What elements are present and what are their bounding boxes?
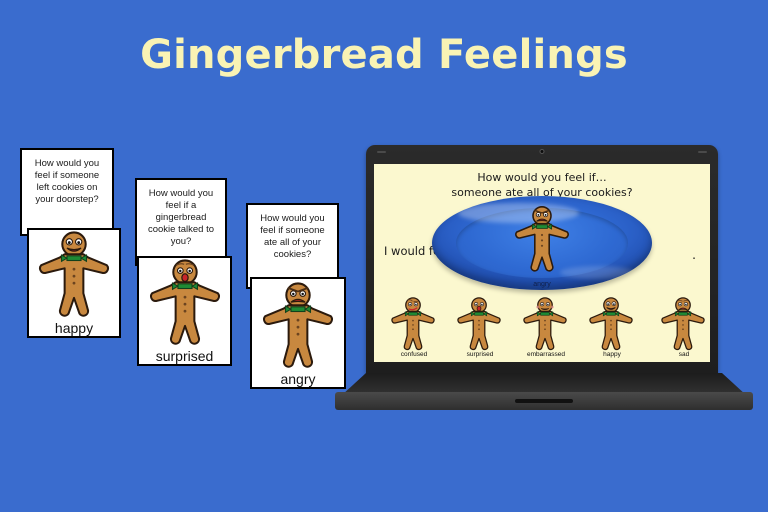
gingerbread-figure-angry-on-plate[interactable]	[512, 202, 572, 279]
slide-content: How would you feel if… someone ate all o…	[374, 164, 710, 362]
plate-dropzone[interactable]: angry	[432, 196, 652, 290]
gingerbread-svg	[520, 294, 570, 352]
gingerbread-svg	[454, 294, 504, 352]
bezel-dash-right-icon	[698, 151, 707, 153]
bezel-dash-left-icon	[377, 151, 386, 153]
choice-happy[interactable]: happy	[586, 294, 638, 356]
gingerbread-svg	[259, 277, 337, 371]
gingerbread-svg	[146, 254, 224, 348]
laptop-latch-notch	[515, 399, 573, 403]
gingerbread-svg	[512, 202, 572, 274]
gingerbread-svg	[586, 294, 636, 352]
laptop-base-front	[335, 392, 753, 410]
laptop-screen[interactable]: How would you feel if… someone ate all o…	[374, 164, 710, 362]
answer-card-2-label: surprised	[139, 348, 230, 364]
answer-card-1-label: happy	[29, 320, 119, 336]
choice-embarrassed[interactable]: embarrassed	[520, 294, 572, 356]
plate-item-label: angry	[533, 281, 551, 288]
gingerbread-figure-happy-large	[29, 226, 119, 320]
screen-question-line1: How would you feel if…	[374, 170, 710, 185]
choice-confused-label: confused	[401, 351, 427, 358]
question-card-2[interactable]: How would you feel if a gingerbread cook…	[135, 178, 227, 266]
sentence-end-period: .	[692, 248, 696, 262]
choice-sad-label: sad	[679, 351, 689, 358]
choice-surprised[interactable]: surprised	[454, 294, 506, 356]
answer-card-2[interactable]: surprised	[137, 256, 232, 366]
page-title: Gingerbread Feelings	[0, 32, 768, 78]
choice-confused[interactable]: confused	[388, 294, 440, 356]
question-card-1-text: How would you feel if someone left cooki…	[28, 158, 106, 206]
choice-happy-label: happy	[603, 351, 621, 358]
gingerbread-svg	[388, 294, 438, 352]
webcam-icon	[540, 149, 545, 154]
gingerbread-svg	[658, 294, 708, 352]
laptop-lid: How would you feel if… someone ate all o…	[366, 145, 718, 377]
gingerbread-svg	[35, 226, 113, 320]
gingerbread-figure-surprised-large	[139, 254, 230, 348]
question-card-2-text: How would you feel if a gingerbread cook…	[143, 188, 219, 248]
question-card-1[interactable]: How would you feel if someone left cooki…	[20, 148, 114, 236]
choice-embarrassed-label: embarrassed	[527, 351, 565, 358]
choice-surprised-label: surprised	[467, 351, 494, 358]
laptop: How would you feel if… someone ate all o…	[330, 140, 760, 430]
laptop-top-bezel	[366, 145, 718, 157]
answer-card-1[interactable]: happy	[27, 228, 121, 338]
choice-sad[interactable]: sad	[658, 294, 710, 356]
question-card-3-text: How would you feel if someone ate all of…	[254, 213, 331, 261]
slide-canvas: Gingerbread Feelings How would you feel …	[0, 0, 768, 512]
